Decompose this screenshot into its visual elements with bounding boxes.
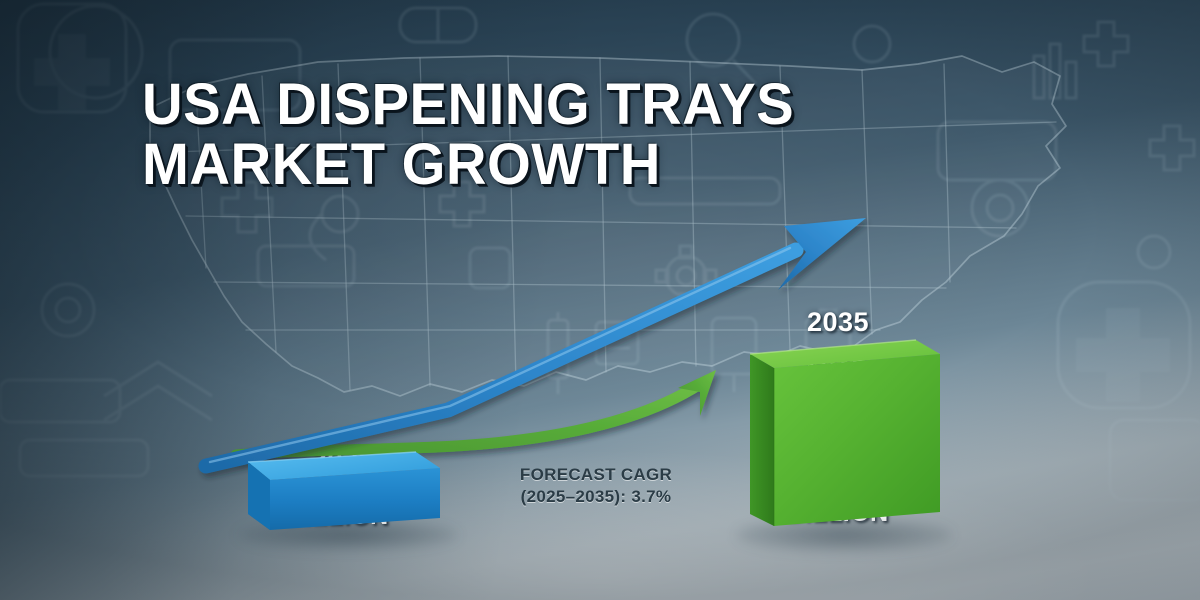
cagr-note-line1: FORECAST CAGR xyxy=(478,464,714,486)
page-title: USA DISPENING TRAYS MARKET GROWTH xyxy=(142,78,982,192)
bar-2025[interactable] xyxy=(240,440,450,540)
title-line-2: MARKET GROWTH xyxy=(142,138,957,192)
forecast-cagr-note: FORECAST CAGR (2025–2035): 3.7% xyxy=(478,464,714,508)
bar-2035[interactable] xyxy=(740,336,952,536)
infographic-canvas: USA DISPENING TRAYS MARKET GROWTH xyxy=(0,0,1200,600)
cagr-note-line2: (2025–2035): 3.7% xyxy=(478,486,714,508)
title-line-1: USA DISPENING TRAYS xyxy=(142,78,957,132)
